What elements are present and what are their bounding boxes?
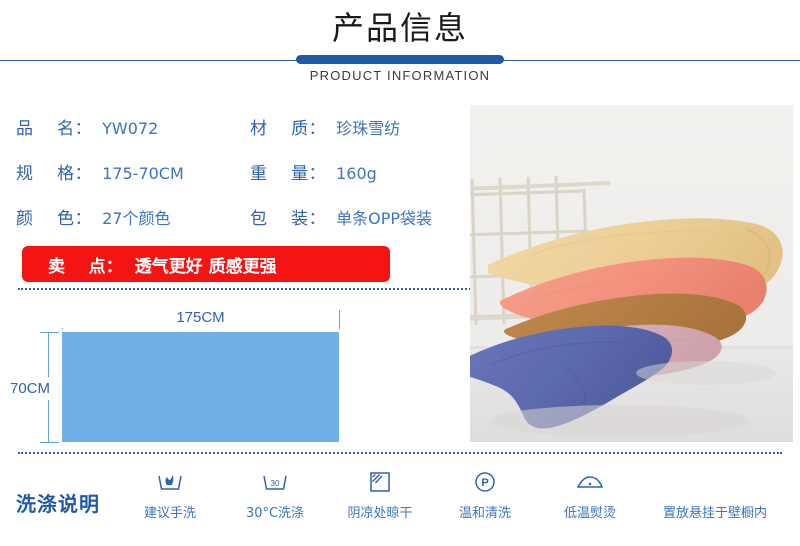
page-header: 产品信息 PRODUCT INFORMATION xyxy=(0,0,800,96)
care-item-label: 阴凉处晾干 xyxy=(347,502,412,521)
spec-value: 27个颜色 xyxy=(102,205,170,229)
height-label: 70CM xyxy=(8,377,52,400)
spec-value: 单条OPP袋装 xyxy=(336,205,432,229)
product-photo xyxy=(470,105,793,442)
spec-value: 珍珠雪纺 xyxy=(336,115,400,139)
spec-cell-material: 材 质： 珍珠雪纺 xyxy=(250,114,470,139)
hand-wash-icon xyxy=(156,468,184,496)
care-item-wash-30c: 30 30°C洗涤 xyxy=(225,462,325,521)
divider-dotted-bottom xyxy=(18,452,782,454)
spec-cell-packaging: 包 装： 单条OPP袋装 xyxy=(250,204,470,229)
care-item-low-temp-iron: 低温熨烫 xyxy=(540,462,640,521)
care-item-label: 30°C洗涤 xyxy=(246,502,304,521)
dimension-diagram: 175CM 70CM xyxy=(0,302,470,450)
spec-cell-weight: 重 量： 160g xyxy=(250,159,470,184)
spec-cell-size: 规 格： 175-70CM xyxy=(0,159,250,184)
spec-value: 160g xyxy=(336,164,377,183)
spec-table: 品 名： YW072 材 质： 珍珠雪纺 规 格： 175-70CM 重 量： … xyxy=(0,104,470,239)
page-subtitle: PRODUCT INFORMATION xyxy=(0,68,800,83)
care-title: 洗涤说明 xyxy=(16,488,100,517)
shade-dry-icon xyxy=(368,468,392,496)
product-photo-illustration xyxy=(470,105,793,442)
spec-row: 规 格： 175-70CM 重 量： 160g xyxy=(0,149,470,194)
selling-point-label: 卖 点： xyxy=(48,252,123,277)
width-label-wrap: 175CM xyxy=(62,308,339,328)
spec-row: 品 名： YW072 材 质： 珍珠雪纺 xyxy=(0,104,470,149)
care-item-hand-wash: 建议手洗 xyxy=(120,462,220,521)
page-title: 产品信息 xyxy=(0,8,800,48)
spec-label: 颜 色： xyxy=(16,204,92,229)
spec-value: YW072 xyxy=(102,119,158,138)
spec-label: 材 质： xyxy=(250,114,326,139)
care-item-list: 建议手洗 30 30°C洗涤 阴凉处晾干 xyxy=(120,462,800,546)
height-tick-top xyxy=(40,332,59,333)
svg-text:P: P xyxy=(481,477,488,489)
height-tick-bottom xyxy=(40,442,59,443)
spec-value: 175-70CM xyxy=(102,164,184,183)
header-accent-bar xyxy=(296,55,504,64)
wash-30c-icon: 30 xyxy=(261,468,289,496)
low-temp-iron-icon xyxy=(575,468,605,496)
care-instructions: 洗涤说明 建议手洗 30 30°C洗涤 xyxy=(0,462,800,546)
spec-label: 包 装： xyxy=(250,204,326,229)
selling-point-text: 透气更好 质感更强 xyxy=(135,252,277,277)
spec-row: 颜 色： 27个颜色 包 装： 单条OPP袋装 xyxy=(0,194,470,239)
gentle-clean-p-icon: P xyxy=(473,468,497,496)
fabric-rectangle xyxy=(62,332,339,442)
care-item-hang-in-closet: 置放悬挂于壁橱内 xyxy=(645,462,785,521)
care-item-label: 温和清洗 xyxy=(459,502,511,521)
selling-point-banner: 卖 点： 透气更好 质感更强 xyxy=(22,246,390,282)
care-item-label: 建议手洗 xyxy=(144,502,196,521)
care-item-label: 置放悬挂于壁橱内 xyxy=(663,502,767,521)
care-item-label: 低温熨烫 xyxy=(564,502,616,521)
care-item-shade-dry: 阴凉处晾干 xyxy=(330,462,430,521)
spec-label: 重 量： xyxy=(250,159,326,184)
care-item-gentle-clean: P 温和清洗 xyxy=(435,462,535,521)
spec-label: 品 名： xyxy=(16,114,92,139)
width-tick-right xyxy=(339,310,340,329)
spec-label: 规 格： xyxy=(16,159,92,184)
width-label: 175CM xyxy=(168,309,232,326)
spec-cell-name: 品 名： YW072 xyxy=(0,114,250,139)
spec-cell-color: 颜 色： 27个颜色 xyxy=(0,204,250,229)
svg-text:30: 30 xyxy=(271,479,280,488)
